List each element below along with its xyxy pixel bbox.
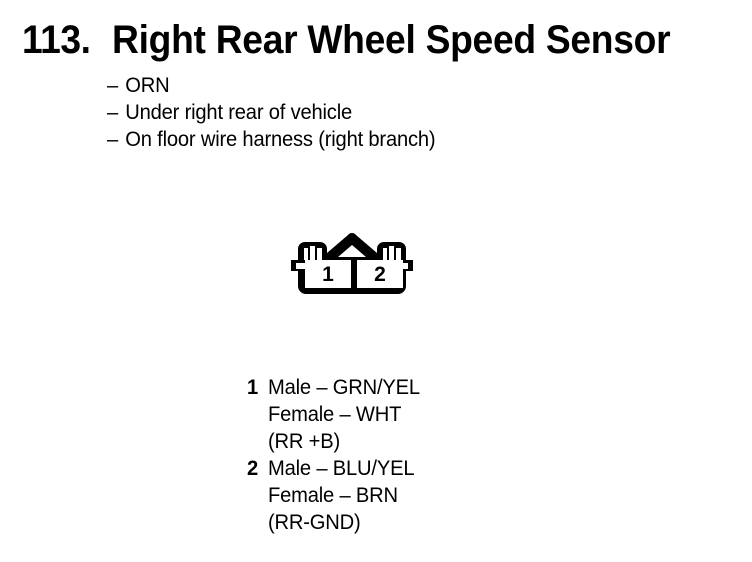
pin-legend-row: (RR +B) [236,428,426,455]
pin-circuit-name: (RR-GND) [268,509,361,536]
connector-diagram: 1 2 [286,224,426,306]
pin-legend-row: Female – BRN [236,482,426,509]
left-side-notch [296,263,305,269]
page-title: 113. Right Rear Wheel Speed Sensor [22,18,712,62]
pin-number: 1 [237,374,258,401]
description-list: –ORN –Under right rear of vehicle –On fl… [107,72,449,153]
pin-legend-row: (RR-GND) [236,509,426,536]
description-item-label: ORN [125,74,169,97]
en-dash-bullet-icon: – [107,72,125,99]
en-dash-bullet-icon: – [107,99,125,126]
description-item-label: On floor wire harness (right branch) [125,128,435,151]
page-title-text: Right Rear Wheel Speed Sensor [112,18,670,62]
pin-legend-entry-2: 2 Male – BLU/YEL Female – BRN (RR-GND) [236,455,426,536]
pin-number: 2 [237,455,258,482]
right-latch-tab-opening-right [396,248,401,260]
pin-circuit-name: (RR +B) [268,428,340,455]
en-dash-bullet-icon: – [107,126,125,153]
cavity-2-number: 2 [374,263,386,286]
pin-male-wire: Male – BLU/YEL [268,455,414,482]
pin-legend: 1 Male – GRN/YEL Female – WHT (RR +B) 2 … [236,374,426,536]
description-item-harness: –On floor wire harness (right branch) [107,126,435,153]
pin-male-wire: Male – GRN/YEL [268,374,420,401]
pin-legend-row: 2 Male – BLU/YEL [236,455,426,482]
left-latch-tab-opening-left [304,248,308,260]
left-latch-tab-opening-right [317,248,322,260]
left-latch-tab-slot [310,246,315,260]
description-item-wire-color: –ORN [107,72,435,99]
connector-drawing-svg: 1 2 [286,224,426,306]
description-item-location: –Under right rear of vehicle [107,99,435,126]
right-latch-tab-opening-left [383,248,387,260]
pin-legend-row: 1 Male – GRN/YEL [236,374,426,401]
description-item-label: Under right rear of vehicle [125,101,352,124]
pin-legend-row: Female – WHT [236,401,426,428]
page-title-number: 113. [22,18,91,62]
document-page: 113. Right Rear Wheel Speed Sensor –ORN … [0,0,752,562]
pin-female-wire: Female – BRN [268,482,398,509]
right-latch-tab-slot [389,246,394,260]
pin-legend-entry-1: 1 Male – GRN/YEL Female – WHT (RR +B) [236,374,426,455]
pin-female-wire: Female – WHT [268,401,401,428]
cavity-1-number: 1 [322,263,334,286]
